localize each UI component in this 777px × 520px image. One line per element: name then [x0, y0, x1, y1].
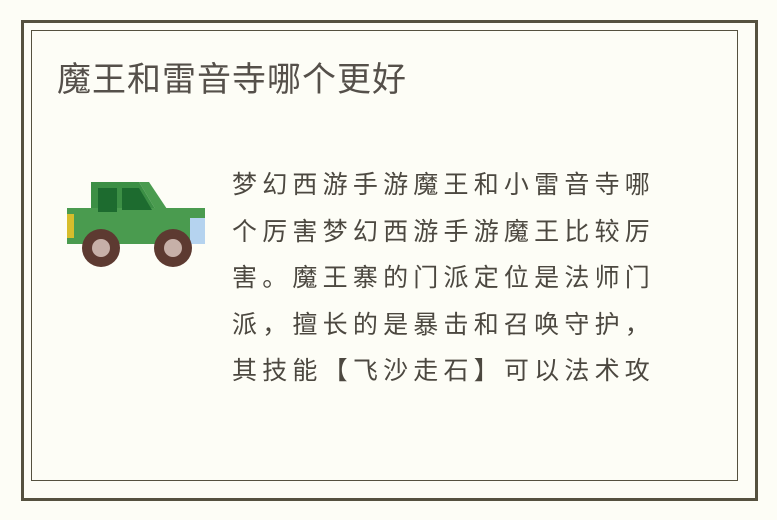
- article-card: 魔王和雷音寺哪个更好: [0, 0, 777, 520]
- page-title: 魔王和雷音寺哪个更好: [57, 57, 407, 103]
- article-body-line: 害。魔王寨的门派定位是法师门: [232, 255, 652, 302]
- article-body: 梦幻西游手游魔王和小雷音寺哪 个厉害梦幻西游手游魔王比较厉 害。魔王寨的门派定位…: [232, 162, 652, 395]
- truck-illustration: [57, 160, 217, 280]
- article-content: 梦幻西游手游魔王和小雷音寺哪 个厉害梦幻西游手游魔王比较厉 害。魔王寨的门派定位…: [57, 150, 697, 430]
- article-body-line: 其技能【飞沙走石】可以法术攻: [232, 348, 652, 395]
- article-body-line: 梦幻西游手游魔王和小雷音寺哪: [232, 162, 652, 209]
- article-body-line: 个厉害梦幻西游手游魔王比较厉: [232, 209, 652, 256]
- article-body-line: 派，擅长的是暴击和召唤守护，: [232, 302, 652, 349]
- green-pickup-truck-icon: [57, 160, 217, 280]
